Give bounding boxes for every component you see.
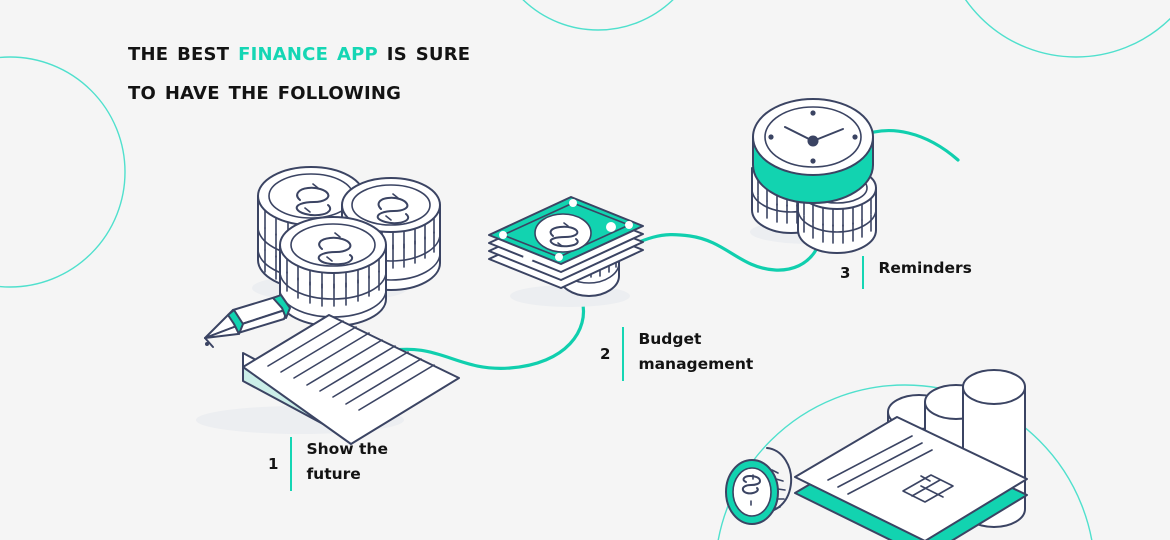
standing-coin-illustration [726, 448, 791, 524]
coin-stack-center [280, 217, 386, 326]
pencil [205, 295, 290, 347]
notepad-and-pencil-illustration [196, 295, 459, 444]
title-part-1: The best [128, 37, 238, 66]
step-item-1: 1 Show the future [268, 437, 388, 491]
step-item-2: 2 Budget management [600, 327, 753, 381]
step-label-3: Reminders [864, 256, 971, 289]
infographic-canvas: .ink { fill: none; stroke: #3b4463; stro… [0, 0, 1170, 540]
clock-on-coins-illustration [750, 99, 876, 253]
title-highlight: finance app [238, 37, 378, 66]
step-number-3: 3 [840, 256, 862, 289]
banknote-stack-illustration [489, 197, 643, 307]
credit-card-and-bar-chart-illustration [726, 370, 1027, 540]
step-label-1: Show the future [292, 437, 388, 491]
step-number-2: 2 [600, 327, 622, 381]
step-label-2: Budget management [624, 327, 753, 381]
step-item-3: 3 Reminders [840, 256, 972, 289]
title-part-2: is sure [378, 37, 470, 66]
title-line-2: to have the following [128, 76, 401, 105]
page-title: The best finance app is sure to have the… [128, 32, 688, 110]
step-number-1: 1 [268, 437, 290, 491]
